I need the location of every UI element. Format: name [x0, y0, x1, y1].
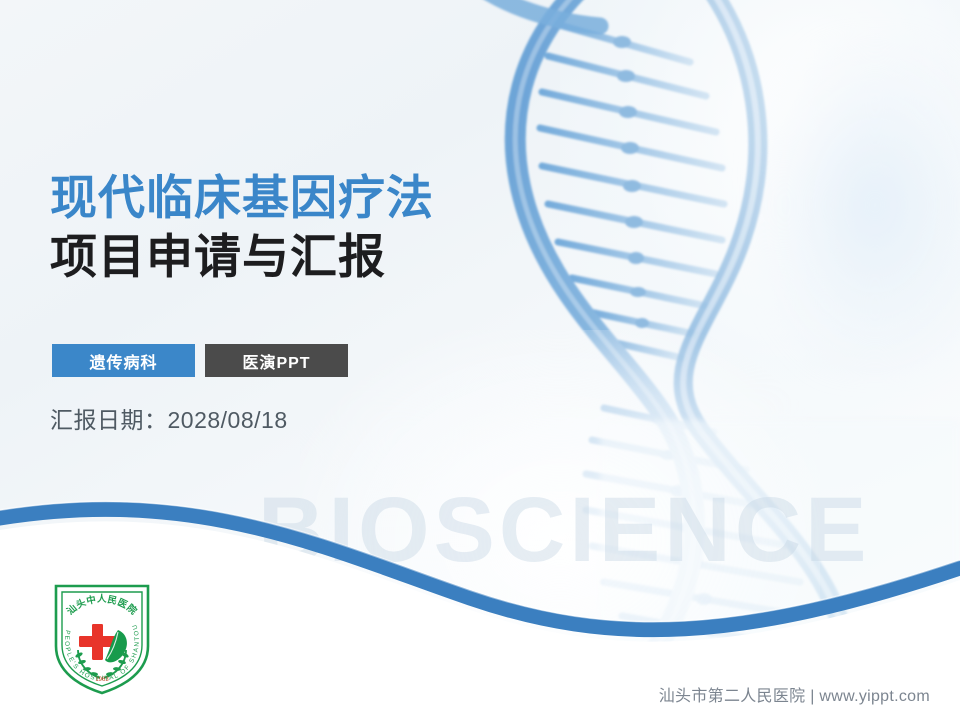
- tag-badge-row: 遗传病科 医演PPT: [52, 344, 348, 377]
- title-line-secondary: 项目申请与汇报: [50, 229, 570, 284]
- slide-title-block: 现代临床基因疗法 项目申请与汇报: [50, 170, 570, 285]
- svg-text:1963: 1963: [95, 677, 109, 683]
- badge-template[interactable]: 医演PPT: [205, 344, 348, 377]
- hospital-logo-icon: 汕头中人民医院 PEOPLE'S HOSPITAL OF SHANTOU: [48, 580, 156, 698]
- footer-credit: 汕头市第二人民医院 | www.yippt.com: [659, 682, 930, 706]
- title-line-primary: 现代临床基因疗法: [50, 170, 570, 225]
- badge-department[interactable]: 遗传病科: [52, 344, 195, 377]
- presentation-slide: BIOSCIENCE 现代临床基因疗法 项目申请与汇报 遗传病科 医演PPT 汇…: [0, 0, 960, 720]
- report-date: 汇报日期：2028/08/18: [50, 401, 288, 435]
